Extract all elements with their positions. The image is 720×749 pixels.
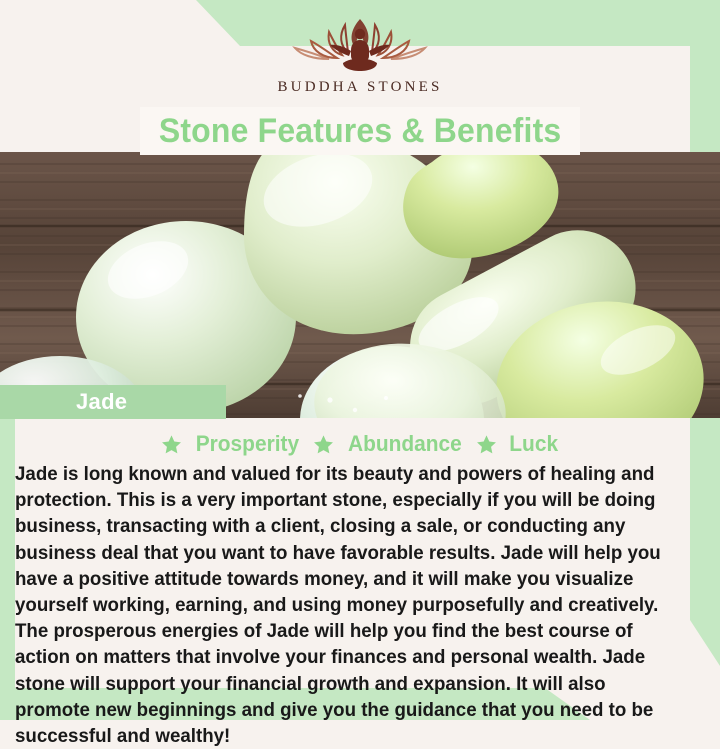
star-icon	[161, 434, 182, 455]
brand-header: BUDDHA STONES	[0, 0, 720, 110]
benefits-row: Prosperity Abundance Luck	[0, 428, 720, 460]
infographic-page: BUDDHA STONES Stone Features & Benefits	[0, 0, 720, 720]
stone-name-label: Jade	[0, 385, 226, 419]
stone-photo	[0, 152, 720, 418]
stone-name-text: Jade	[76, 389, 127, 415]
page-title-text: Stone Features & Benefits	[159, 112, 562, 151]
star-icon	[313, 434, 334, 455]
star-icon	[476, 434, 497, 455]
brand-wordmark: BUDDHA STONES	[277, 79, 442, 96]
lotus-meditation-icon	[285, 15, 435, 77]
benefit-label-abundance: Abundance	[348, 431, 462, 457]
benefit-label-luck: Luck	[509, 431, 558, 457]
page-title: Stone Features & Benefits	[140, 107, 580, 155]
benefit-label-prosperity: Prosperity	[196, 431, 299, 457]
stone-description: Jade is long known and valued for its be…	[15, 461, 681, 749]
